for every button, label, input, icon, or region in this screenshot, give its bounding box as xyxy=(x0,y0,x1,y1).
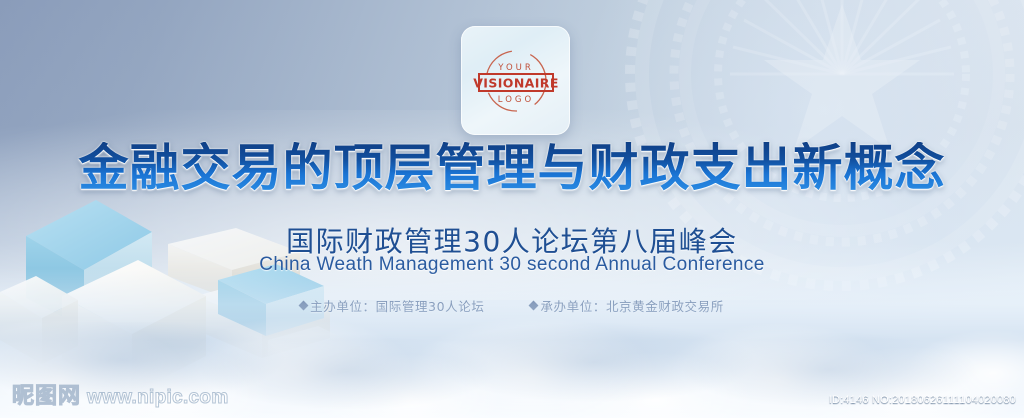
headline-group: 金融交易的顶层管理与财政支出新概念 金融交易的顶层管理与财政支出新概念 xyxy=(0,0,1024,1)
site-watermark: 昵图网 www.nipic.com xyxy=(12,386,229,408)
svg-text:LOGO: LOGO xyxy=(497,95,533,105)
page-title: 金融交易的顶层管理与财政支出新概念 xyxy=(0,142,1024,194)
watermark-brand: 昵图网 xyxy=(12,386,81,408)
visionaire-logo-stamp-icon: YOUR VISIONAIRE LOGO xyxy=(461,26,570,135)
watermark-url: www.nipic.com xyxy=(87,388,229,408)
visionaire-logo-plate: YOUR VISIONAIRE LOGO xyxy=(461,26,570,135)
conference-banner-poster: YOUR VISIONAIRE LOGO 金融交易的顶层管理与财政支出新概念 金… xyxy=(0,0,1024,418)
asset-id-tag: ID:4146 NO:20180626111104020080 xyxy=(829,394,1016,406)
svg-text:VISIONAIRE: VISIONAIRE xyxy=(473,75,559,90)
svg-text:YOUR: YOUR xyxy=(497,63,534,73)
